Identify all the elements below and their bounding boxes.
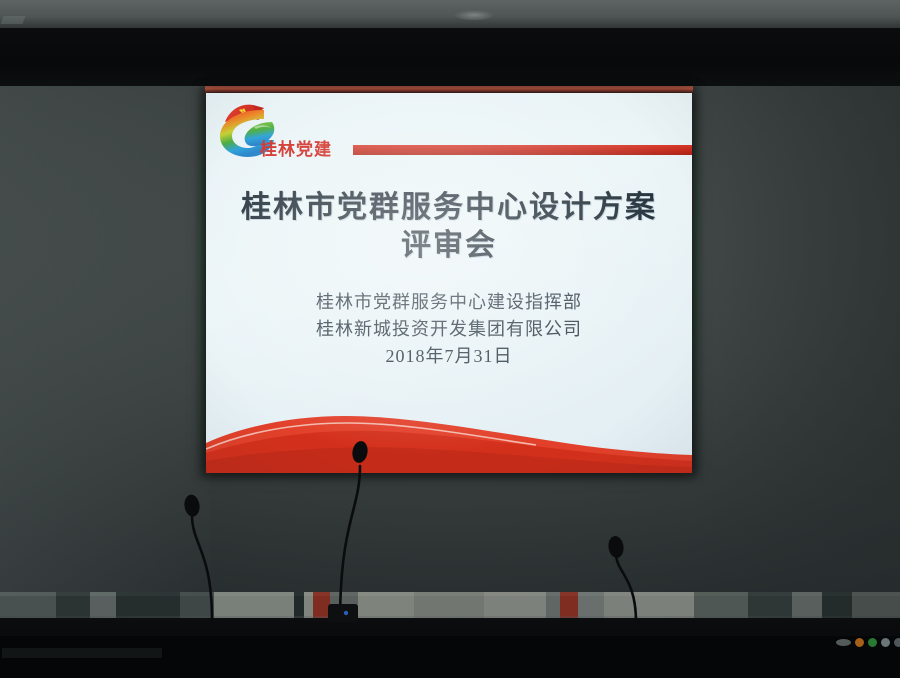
ceiling-soffit <box>0 28 900 90</box>
indicator-lamp-green <box>868 638 877 647</box>
podium-nameplate <box>2 648 162 658</box>
red-wave-decoration <box>206 383 692 473</box>
ceiling <box>0 0 900 30</box>
wall-shadow-right <box>690 86 900 596</box>
slide-title-line-1: 桂林市党群服务中心设计方案 <box>206 189 692 227</box>
indicator-lamp-grey <box>881 638 890 647</box>
slide-title: 桂林市党群服务中心设计方案 评审会 <box>206 189 692 265</box>
recessed-ceiling-light <box>455 10 493 20</box>
microphone-shape <box>600 540 646 622</box>
conference-room-photo: 桂林党建 桂林市党群服务中心设计方案 评审会 桂林市党群服务中心建设指挥部 桂林… <box>0 0 900 678</box>
slide-subtitle-line-1: 桂林市党群服务中心建设指挥部 <box>206 289 692 316</box>
slide-subtitle-line-2: 桂林新城投资开发集团有限公司 <box>206 316 692 343</box>
projection-screen: 桂林党建 桂林市党群服务中心设计方案 评审会 桂林市党群服务中心建设指挥部 桂林… <box>206 93 692 473</box>
slide-title-line-2: 评审会 <box>206 227 692 265</box>
slide-subtitle: 桂林市党群服务中心建设指挥部 桂林新城投资开发集团有限公司 2018年7月31日 <box>206 289 692 370</box>
microphone-right[interactable] <box>600 540 646 622</box>
indicator-lamp-amber <box>855 638 864 647</box>
slide-date: 2018年7月31日 <box>206 343 692 370</box>
header-accent-bar <box>353 145 692 155</box>
microphone-center[interactable] <box>330 436 376 624</box>
ceiling-vent <box>1 16 26 24</box>
wave-artwork <box>206 383 692 473</box>
guilin-party-building-logo: 桂林党建 <box>212 99 372 161</box>
microphone-left[interactable] <box>176 495 222 620</box>
logo-wordmark: 桂林党建 <box>260 135 332 160</box>
indicator-lamp-dim <box>894 638 900 647</box>
microphone-shape <box>330 436 376 624</box>
microphone-shape <box>176 495 222 620</box>
indicator-lamp-cluster <box>836 638 900 647</box>
indicator-lamp-housing <box>836 639 851 646</box>
